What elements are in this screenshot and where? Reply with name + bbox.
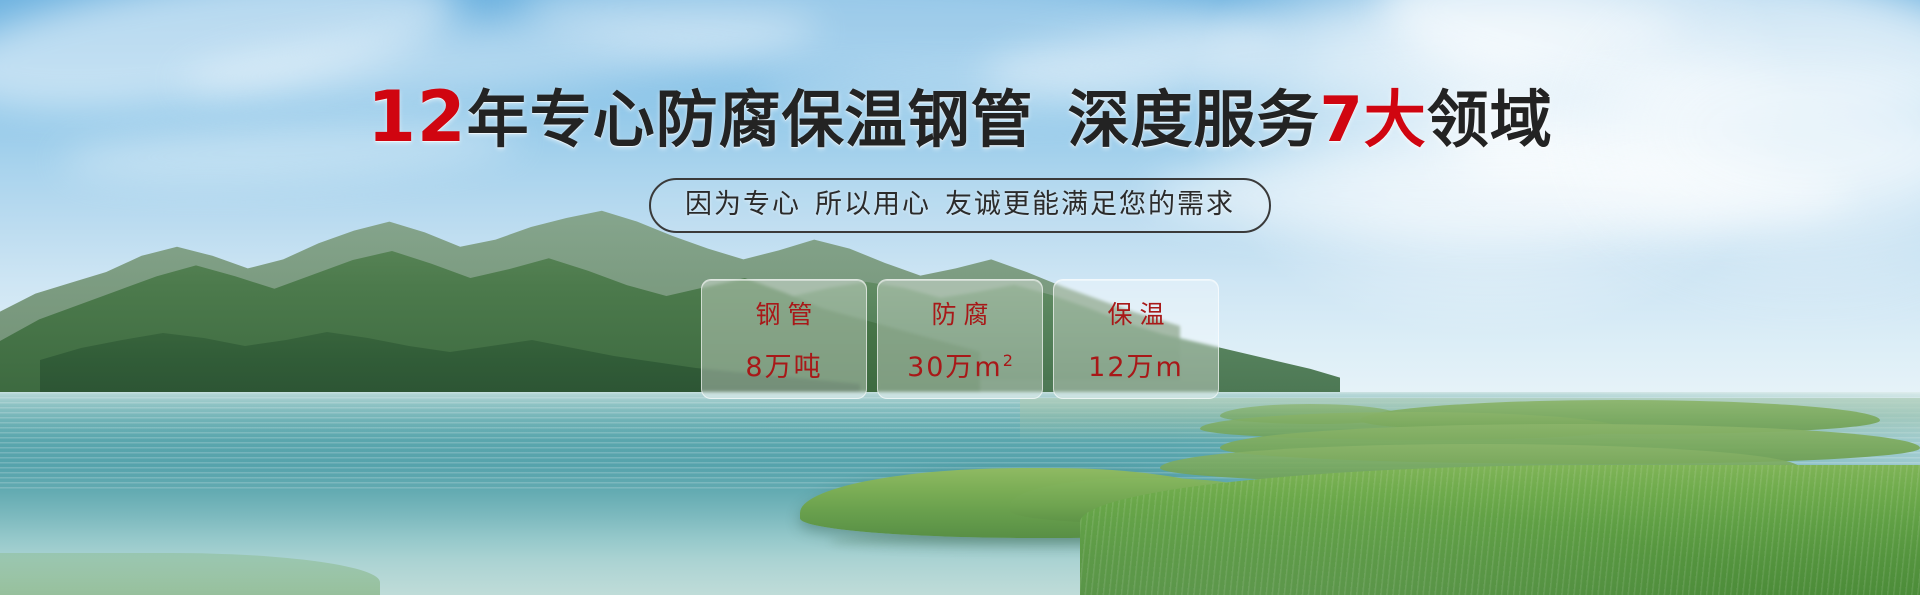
headline-fields-text: 领域 <box>1427 83 1553 156</box>
stat-card-steel-pipe[interactable]: 钢管 8万吨 <box>701 279 867 399</box>
headline-service-text: 深度服务 <box>1068 83 1320 156</box>
stat-card-group: 钢管 8万吨 防腐 30万m2 保温 12万m <box>701 279 1219 399</box>
foreground-grass <box>1080 465 1920 595</box>
stat-value-number: 30 <box>907 352 945 383</box>
stat-value-unit: 万m <box>945 352 1002 383</box>
subtitle-part-1: 因为专心 <box>685 189 801 220</box>
stat-card-value: 30万m2 <box>907 345 1013 384</box>
hero-banner: 12年专心防腐保温钢管深度服务7大领域 因为专心所以用心友诚更能满足您的需求 钢… <box>0 0 1920 595</box>
stat-value-superscript: 2 <box>1003 351 1013 370</box>
banner-headline: 12年专心防腐保温钢管深度服务7大领域 <box>367 82 1553 152</box>
stat-card-title: 钢管 <box>748 295 819 331</box>
stat-card-anticorrosion[interactable]: 防腐 30万m2 <box>877 279 1043 399</box>
stat-card-insulation[interactable]: 保温 12万m <box>1053 279 1219 399</box>
subtitle-part-3: 友诚更能满足您的需求 <box>945 189 1235 220</box>
subtitle-pill: 因为专心所以用心友诚更能满足您的需求 <box>649 178 1271 233</box>
stat-card-value: 12万m <box>1088 345 1184 384</box>
headline-main-text: 年专心防腐保温钢管 <box>467 83 1034 156</box>
subtitle-part-2: 所以用心 <box>815 189 931 220</box>
headline-fields-count: 7大 <box>1320 83 1427 156</box>
headline-year-number: 12 <box>367 76 466 158</box>
stat-card-value: 8万吨 <box>745 345 822 384</box>
stat-card-title: 防腐 <box>924 295 995 331</box>
stat-card-title: 保温 <box>1100 295 1171 331</box>
